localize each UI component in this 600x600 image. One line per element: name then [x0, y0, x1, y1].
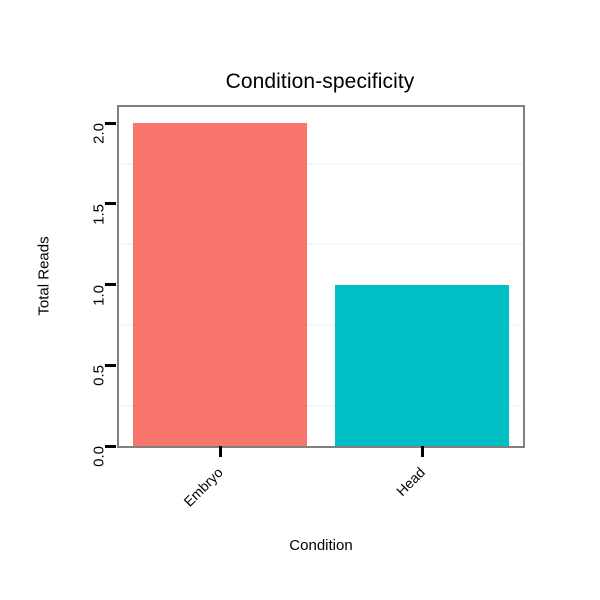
bar-head [335, 285, 509, 446]
y-axis-label: Total Reads [36, 236, 53, 315]
y-axis-tick-label: 1.0 [91, 285, 108, 306]
y-axis-tick-label: 2.0 [91, 123, 108, 144]
bar-embryo [133, 123, 307, 446]
x-axis-tick-label: Embryo [180, 464, 225, 509]
x-axis-tick-label: Head [393, 464, 428, 499]
y-axis-tick-label: 0.0 [91, 446, 108, 467]
x-axis-label: Condition [117, 537, 525, 554]
chart-title: Condition-specificity [20, 70, 600, 94]
plot-panel: 0.00.51.01.52.0EmbryoHead [117, 105, 525, 448]
y-axis-tick-label: 1.5 [91, 204, 108, 225]
plot-area [119, 107, 523, 446]
y-axis-tick-label: 0.5 [91, 365, 108, 386]
chart-figure: Condition-specificity Total Reads Condit… [0, 0, 600, 600]
x-axis-tick [421, 446, 424, 457]
x-axis-tick [219, 446, 222, 457]
